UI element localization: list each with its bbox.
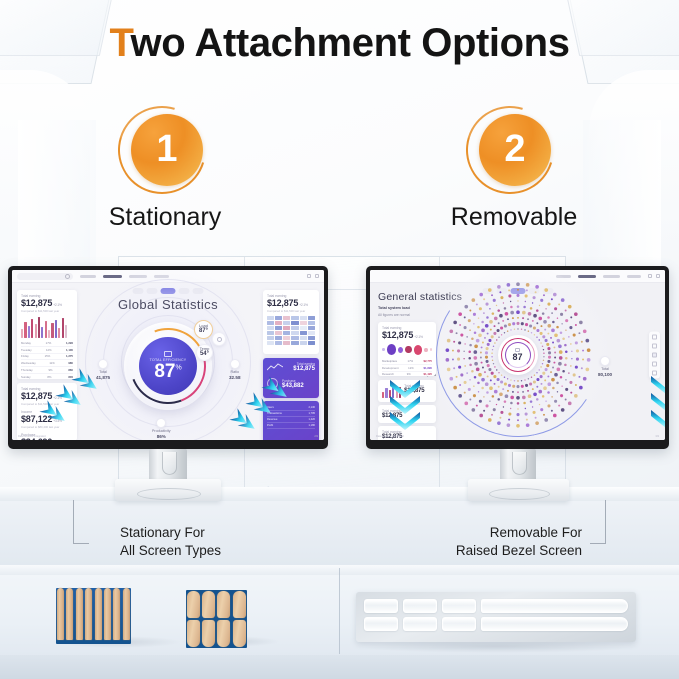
adhesive-strip — [85, 588, 92, 640]
list-item: Wednesday11%980 — [21, 360, 73, 367]
badge-number: 1 — [156, 130, 177, 168]
adhesive-pad — [217, 591, 230, 618]
bg-floor — [0, 655, 679, 679]
card-value: $12,875+2.1% — [267, 298, 315, 308]
mini-bar-chart — [21, 316, 73, 338]
card-value: $12,875+2.1% — [21, 298, 73, 308]
stat-value: 80,100 — [598, 372, 612, 377]
adhesive-strip — [123, 588, 130, 640]
page-number: 2/3 — [314, 435, 318, 438]
search-input[interactable] — [17, 273, 73, 280]
card-row-list: Marketplace17%$2,775 Development12%$1,89… — [382, 358, 432, 376]
stat-icon — [230, 359, 240, 369]
chart-icon[interactable] — [652, 335, 657, 340]
grid-icon[interactable] — [315, 274, 319, 278]
monitor-bezel: General statistics Total system load All… — [366, 266, 669, 449]
clip-small — [442, 617, 476, 631]
list-item: Development12%$1,890 — [382, 365, 432, 372]
adhesive-strip — [57, 588, 64, 640]
list-item: Thursday9%860 — [21, 367, 73, 374]
list-item: Monday17%1,290 — [21, 340, 73, 347]
card-value: $12,875+2.1% — [382, 330, 432, 340]
burst-center-gauge: 87 — [498, 335, 538, 375]
callout-bracket-right — [590, 500, 606, 544]
adhesive-strip — [95, 588, 102, 640]
infographic-canvas: Two Attachment Options 1 Stationary 2 Re… — [0, 0, 679, 679]
flag-icon[interactable] — [652, 362, 657, 367]
card-heatmap[interactable]: Total earning $12,875+2.1% Compared to $… — [263, 290, 319, 354]
purple-card-value: $12,875 — [293, 366, 315, 372]
caption-removable: Removable For Raised Bezel Screen — [456, 524, 582, 560]
card-sub: Compared to $11,500 last year — [267, 309, 315, 313]
side-stat-total: Total 41,875 — [96, 359, 110, 380]
clip-bar — [481, 617, 628, 631]
nav-item-dashboard[interactable] — [603, 275, 620, 278]
side-stat-ratio: Ratio 32.58 — [229, 359, 241, 380]
right-vertical-toolbar — [649, 332, 660, 379]
option-badge-1: 1 — [118, 104, 214, 200]
grid-icon[interactable] — [656, 274, 660, 278]
card-row-list: Monday17%1,290 Tuesday12%1,100 Friday15%… — [21, 340, 73, 379]
stat-label: Total — [99, 370, 107, 374]
monitor-screen: Global Statistics TOTAL EFFICIENCY 87% — [12, 270, 324, 440]
adhesive-pad — [187, 591, 200, 618]
user-icon[interactable] — [648, 274, 652, 278]
user-icon[interactable] — [307, 274, 311, 278]
stat-value: 32.58 — [229, 375, 241, 380]
gear-icon — [217, 337, 222, 342]
adhesive-pad — [187, 620, 200, 647]
stat-label: Ratio — [231, 370, 239, 374]
accessory-adhesive-strips — [56, 588, 131, 644]
stat-label: Productivity — [152, 429, 171, 433]
adhesive-pad — [233, 591, 246, 618]
nav-item-overview[interactable] — [578, 275, 596, 278]
list-item: Tuesday12%1,100 — [21, 347, 73, 354]
heatmap-grid — [267, 316, 315, 345]
adhesive-pad — [202, 591, 215, 618]
page-number: 3/3 — [655, 435, 659, 438]
dashboard-subtitle-secondary: All figures are normal — [378, 313, 410, 317]
dashboard-window-actions — [307, 274, 319, 278]
adhesive-strip — [104, 588, 111, 640]
monitor-stand-neck — [500, 449, 536, 481]
clip-small — [364, 617, 398, 631]
adhesive-strip — [66, 588, 73, 640]
dashboard-window-actions — [648, 274, 660, 278]
monitor-screen: General statistics Total system load All… — [370, 270, 665, 440]
option-label-1: Stationary — [45, 203, 285, 232]
chevron-icon — [388, 410, 422, 430]
nav-item-products[interactable] — [627, 275, 641, 278]
radial-burst-chart: 87 — [444, 281, 592, 429]
stat-icon — [600, 356, 610, 366]
dashboard-nav — [556, 275, 641, 278]
clip-bar — [481, 599, 628, 613]
clip-small — [442, 599, 476, 613]
option-label-2: Removable — [394, 203, 634, 232]
list-item: Research9%$1,420 — [382, 372, 432, 376]
dashboard-subtitle: Total system load — [378, 306, 410, 310]
gauge-ring-inner — [505, 342, 531, 368]
gear-icon[interactable] — [652, 353, 657, 358]
side-stat-productivity: Productivity 86% — [152, 418, 171, 439]
gauge-caption: TOTAL EFFICIENCY — [150, 358, 187, 362]
bubble-value: 87° — [199, 328, 208, 336]
clip-small — [403, 599, 437, 613]
dashboard-footer: Data sources integrated — [376, 435, 404, 438]
table-row: Profit1,180 — [267, 423, 315, 429]
adhesive-strip — [113, 588, 120, 640]
monitor-stand-base — [115, 479, 221, 501]
adhesive-pad — [233, 620, 246, 647]
badge-circle: 2 — [479, 114, 551, 186]
title-accent-letter: T — [109, 21, 130, 65]
callout-bracket-left — [73, 500, 89, 544]
dashboard-general-statistics: General statistics Total system load All… — [370, 270, 665, 440]
chevron-icon — [649, 408, 665, 428]
badge-circle: 1 — [131, 114, 203, 186]
list-item: Sunday8%800 — [21, 374, 73, 379]
bubble-chart — [382, 344, 432, 355]
adhesive-pad — [217, 620, 230, 647]
card-bubble-chart[interactable]: Total earning $12,875+2.1% Mar — [378, 322, 436, 376]
trend-line-icon — [267, 363, 283, 371]
clip-small — [403, 617, 437, 631]
list-item: Marketplace17%$2,775 — [382, 358, 432, 365]
dashboard-global-statistics: Global Statistics TOTAL EFFICIENCY 87% — [12, 270, 324, 440]
side-stat-total: Total 80,100 — [598, 356, 612, 377]
gauge-bubble-settings[interactable] — [212, 332, 226, 346]
stat-icon — [156, 418, 166, 428]
purple-card-label: Purchase — [282, 379, 304, 383]
accessory-adhesive-pads — [186, 590, 247, 648]
monitor-stand-base — [468, 479, 569, 501]
dashboard-footer: Data sources integrated — [18, 435, 46, 438]
adhesive-strip — [76, 588, 83, 640]
card-sub: Compared to $11,500 last year — [21, 309, 73, 313]
stat-icon — [98, 359, 108, 369]
bottom-section-divider — [339, 568, 340, 654]
clip-small — [364, 599, 398, 613]
stat-value: 86% — [157, 434, 166, 439]
accessory-clip-panel — [356, 592, 636, 642]
nav-item-overview[interactable] — [103, 275, 122, 278]
caption-stationary: Stationary For All Screen Types — [120, 524, 221, 560]
purple-card-label: Total earning — [293, 362, 315, 366]
card-total-earning-top[interactable]: Total earning $12,875+2.1% Compared to $… — [17, 290, 77, 379]
list-item: Friday15%1,275 — [21, 354, 73, 361]
adhesive-pad — [202, 620, 215, 647]
gauge-bubble-load[interactable]: Load 87° — [194, 320, 213, 339]
title-rest: wo Attachment Options — [131, 21, 570, 65]
badge-number: 2 — [504, 130, 525, 168]
stat-label: Total — [601, 367, 609, 371]
bg-desk-top — [0, 487, 679, 501]
option-badge-2: 2 — [466, 104, 562, 200]
monitor-stand-neck — [149, 449, 187, 481]
bubble-value: 54° — [200, 351, 209, 359]
nav-item-analytics[interactable] — [80, 275, 96, 278]
gauge-bubble-temp[interactable]: Temp 54° — [196, 344, 213, 361]
page-title: Two Attachment Options — [0, 21, 679, 66]
monitor-bezel: Global Statistics TOTAL EFFICIENCY 87% — [8, 266, 328, 449]
filter-icon[interactable] — [652, 344, 657, 349]
